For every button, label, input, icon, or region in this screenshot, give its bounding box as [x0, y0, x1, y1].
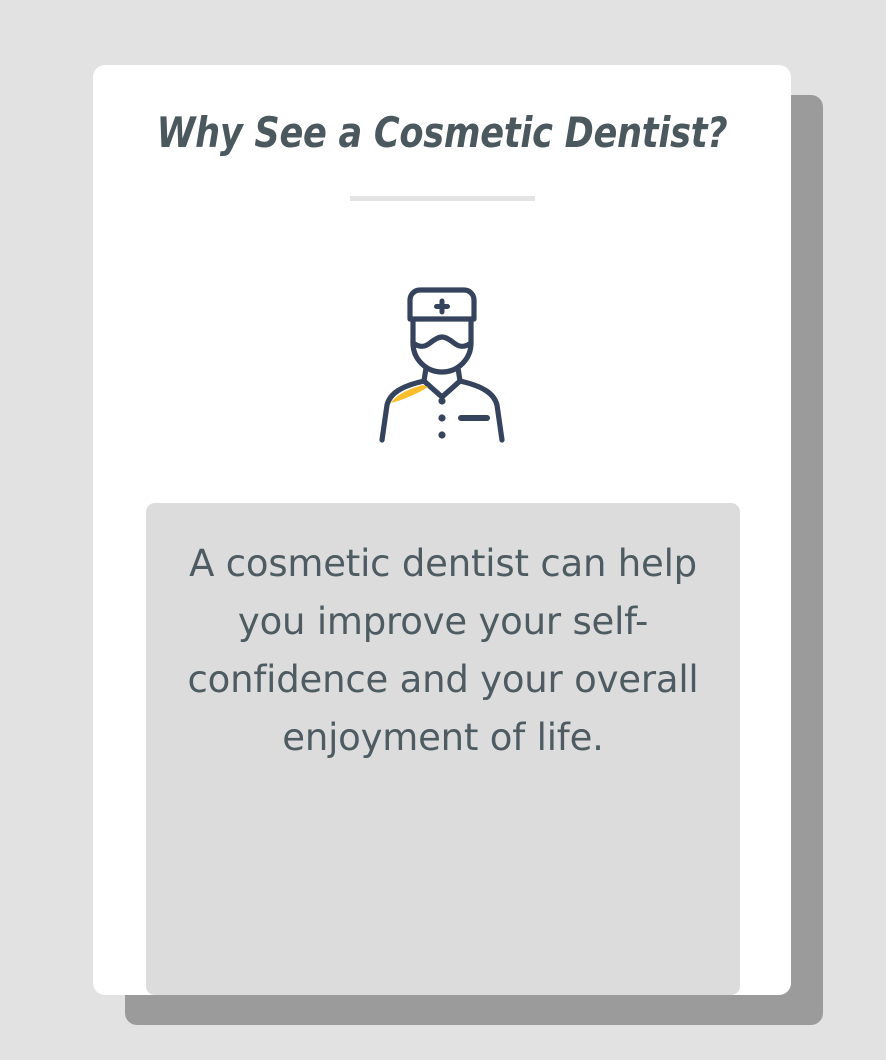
page-title: Why See a Cosmetic Dentist?	[117, 107, 766, 159]
content-body-text: A cosmetic dentist can help you improve …	[174, 535, 712, 767]
title-divider	[350, 196, 535, 201]
page-root: Why See a Cosmetic Dentist?	[0, 0, 886, 1060]
icon-container	[93, 270, 791, 444]
dentist-icon	[376, 270, 508, 444]
content-panel: A cosmetic dentist can help you improve …	[146, 503, 740, 995]
info-card: Why See a Cosmetic Dentist?	[93, 65, 791, 995]
